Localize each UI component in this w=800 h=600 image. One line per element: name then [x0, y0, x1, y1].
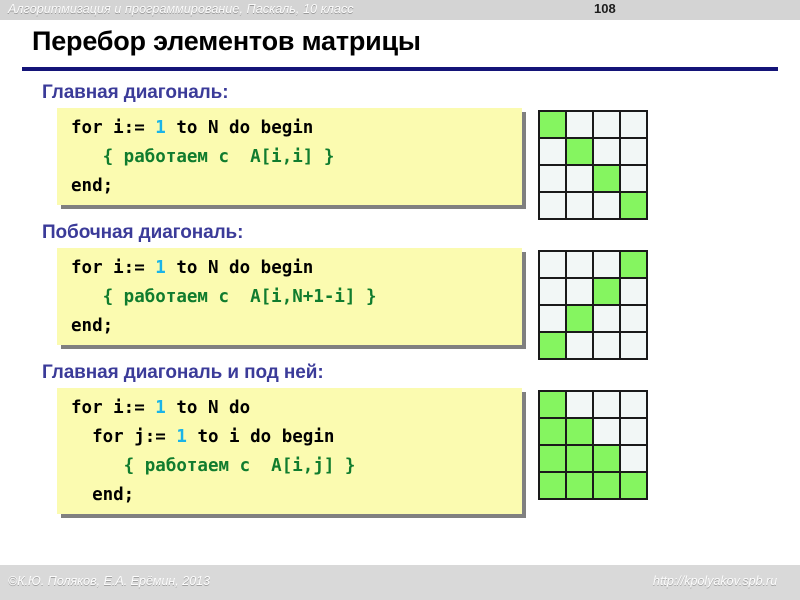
matrix-cell: [594, 333, 619, 358]
section-heading-lower-triangle: Главная диагональ и под ней:: [42, 362, 324, 384]
code-block-lower-triangle: for i:= 1 to N do for j:= 1 to i do begi…: [57, 388, 522, 514]
code-line: end;: [71, 481, 512, 510]
code-token-plain: to N do begin: [166, 258, 314, 278]
code-line: for i:= 1 to N do begin: [71, 254, 512, 283]
matrix-cell: [540, 112, 565, 137]
matrix-grid-main-diagonal: [538, 110, 648, 220]
code-token-plain: for i:=: [71, 398, 155, 418]
matrix-cell: [567, 419, 592, 444]
matrix-cell: [594, 306, 619, 331]
matrix-cell: [594, 139, 619, 164]
matrix-cell: [594, 446, 619, 471]
matrix-cell: [621, 193, 646, 218]
matrix-cell: [540, 139, 565, 164]
header-subject-label: Алгоритмизация и программирование, Паска…: [8, 2, 354, 16]
code-token-comment: { работаем с A[i,j] }: [71, 456, 355, 476]
matrix-grid-lower-triangle: [538, 390, 648, 500]
code-token-num: 1: [176, 427, 187, 447]
matrix-cell: [540, 193, 565, 218]
matrix-cell: [540, 392, 565, 417]
code-token-plain: end;: [71, 485, 134, 505]
matrix-cell: [621, 166, 646, 191]
code-line: { работаем с A[i,j] }: [71, 452, 512, 481]
code-line: end;: [71, 172, 512, 201]
code-line: for i:= 1 to N do: [71, 394, 512, 423]
matrix-cell: [540, 166, 565, 191]
matrix-cell: [621, 252, 646, 277]
code-token-plain: to N do begin: [166, 118, 314, 138]
matrix-cell: [567, 139, 592, 164]
footer-copyright: ©К.Ю. Поляков, Е.А. Ерёмин, 2013: [8, 574, 210, 588]
code-token-plain: to i do begin: [187, 427, 335, 447]
matrix-cell: [540, 279, 565, 304]
footer-url[interactable]: http://kpolyakov.spb.ru: [653, 574, 777, 588]
matrix-cell: [621, 333, 646, 358]
matrix-cell: [540, 333, 565, 358]
matrix-cell: [567, 473, 592, 498]
matrix-cell: [540, 473, 565, 498]
matrix-cell: [621, 473, 646, 498]
matrix-cell: [567, 446, 592, 471]
code-token-num: 1: [155, 258, 166, 278]
code-block-anti-diagonal: for i:= 1 to N do begin { работаем с A[i…: [57, 248, 522, 345]
code-block-main-diagonal: for i:= 1 to N do begin { работаем с A[i…: [57, 108, 522, 205]
matrix-cell: [540, 446, 565, 471]
matrix-cell: [540, 306, 565, 331]
matrix-cell: [567, 193, 592, 218]
matrix-cell: [594, 112, 619, 137]
code-line: for j:= 1 to i do begin: [71, 423, 512, 452]
section-heading-anti-diagonal: Побочная диагональ:: [42, 222, 243, 244]
code-token-num: 1: [155, 398, 166, 418]
matrix-cell: [621, 419, 646, 444]
code-line: for i:= 1 to N do begin: [71, 114, 512, 143]
matrix-cell: [594, 252, 619, 277]
matrix-cell: [594, 279, 619, 304]
code-token-plain: end;: [71, 316, 113, 336]
matrix-cell: [621, 306, 646, 331]
matrix-cell: [567, 252, 592, 277]
page-title: Перебор элементов матрицы: [32, 26, 421, 57]
code-line: { работаем с A[i,i] }: [71, 143, 512, 172]
matrix-cell: [621, 139, 646, 164]
matrix-cell: [594, 166, 619, 191]
code-token-comment: { работаем с A[i,N+1-i] }: [71, 287, 377, 307]
matrix-cell: [594, 473, 619, 498]
code-token-num: 1: [155, 118, 166, 138]
matrix-cell: [540, 252, 565, 277]
matrix-cell: [567, 392, 592, 417]
matrix-cell: [621, 112, 646, 137]
matrix-grid-anti-diagonal: [538, 250, 648, 360]
code-token-plain: end;: [71, 176, 113, 196]
matrix-cell: [594, 193, 619, 218]
code-line: end;: [71, 312, 512, 341]
page-number: 108: [594, 1, 616, 16]
matrix-cell: [567, 112, 592, 137]
matrix-cell: [540, 419, 565, 444]
matrix-cell: [621, 446, 646, 471]
code-line: { работаем с A[i,N+1-i] }: [71, 283, 512, 312]
code-token-plain: to N do: [166, 398, 250, 418]
matrix-cell: [594, 419, 619, 444]
matrix-cell: [594, 392, 619, 417]
code-token-plain: for j:=: [71, 427, 176, 447]
matrix-cell: [567, 279, 592, 304]
matrix-cell: [567, 333, 592, 358]
code-token-plain: for i:=: [71, 118, 155, 138]
matrix-cell: [621, 392, 646, 417]
matrix-cell: [567, 306, 592, 331]
code-token-comment: { работаем с A[i,i] }: [71, 147, 334, 167]
title-divider: [22, 67, 778, 71]
code-token-plain: for i:=: [71, 258, 155, 278]
matrix-cell: [567, 166, 592, 191]
section-heading-main-diagonal: Главная диагональ:: [42, 82, 228, 104]
matrix-cell: [621, 279, 646, 304]
